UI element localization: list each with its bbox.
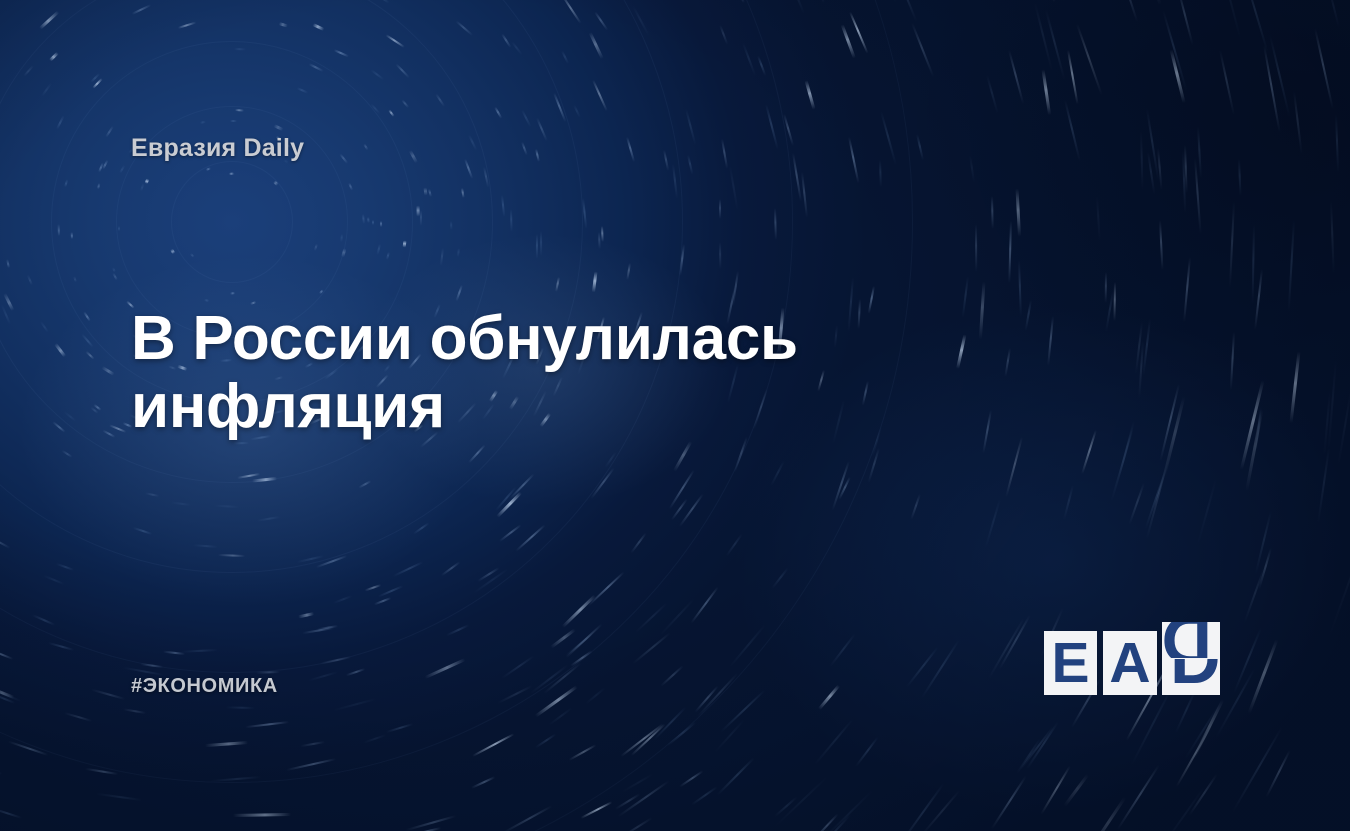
- brand-name: Евразия Daily: [131, 136, 304, 161]
- logo-tile-d-bottom-half: D: [1162, 659, 1220, 695]
- logo-letter-d-inverted: D: [1170, 622, 1212, 658]
- page-title: В России обнулилась инфляция: [131, 305, 1031, 441]
- logo-letter-a: A: [1109, 635, 1150, 692]
- category-tag[interactable]: #ЭКОНОМИКА: [131, 676, 278, 696]
- logo-tile-e: E: [1044, 631, 1097, 695]
- logo-tile-a: A: [1103, 631, 1157, 695]
- news-share-card: Евразия Daily В России обнулилась инфляц…: [0, 0, 1350, 831]
- logo-tile-d: D D: [1162, 622, 1220, 695]
- eadaily-logo[interactable]: E A D D: [1044, 622, 1220, 695]
- logo-letter-d: D: [1170, 659, 1212, 695]
- logo-tile-d-top-half: D: [1162, 622, 1220, 658]
- logo-letter-e: E: [1051, 635, 1089, 692]
